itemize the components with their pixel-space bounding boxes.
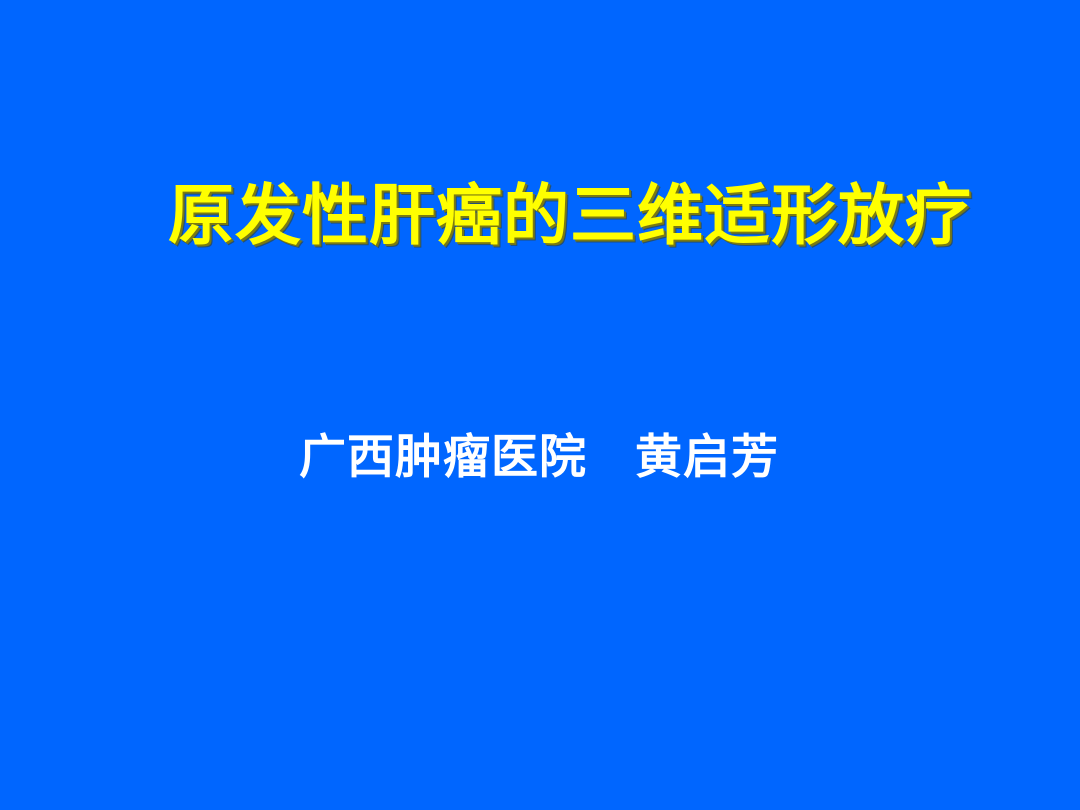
slide-subtitle: 广西肿瘤医院 黄启芳 [299,430,779,486]
presentation-slide: 原发性肝癌的三维适形放疗 广西肿瘤医院 黄启芳 [0,0,1080,810]
page-title: 原发性肝癌的三维适形放疗 [168,178,972,255]
title-placeholder: 原发性肝癌的三维适形放疗 [0,178,1080,255]
subtitle-placeholder: 广西肿瘤医院 黄启芳 [0,430,1080,486]
